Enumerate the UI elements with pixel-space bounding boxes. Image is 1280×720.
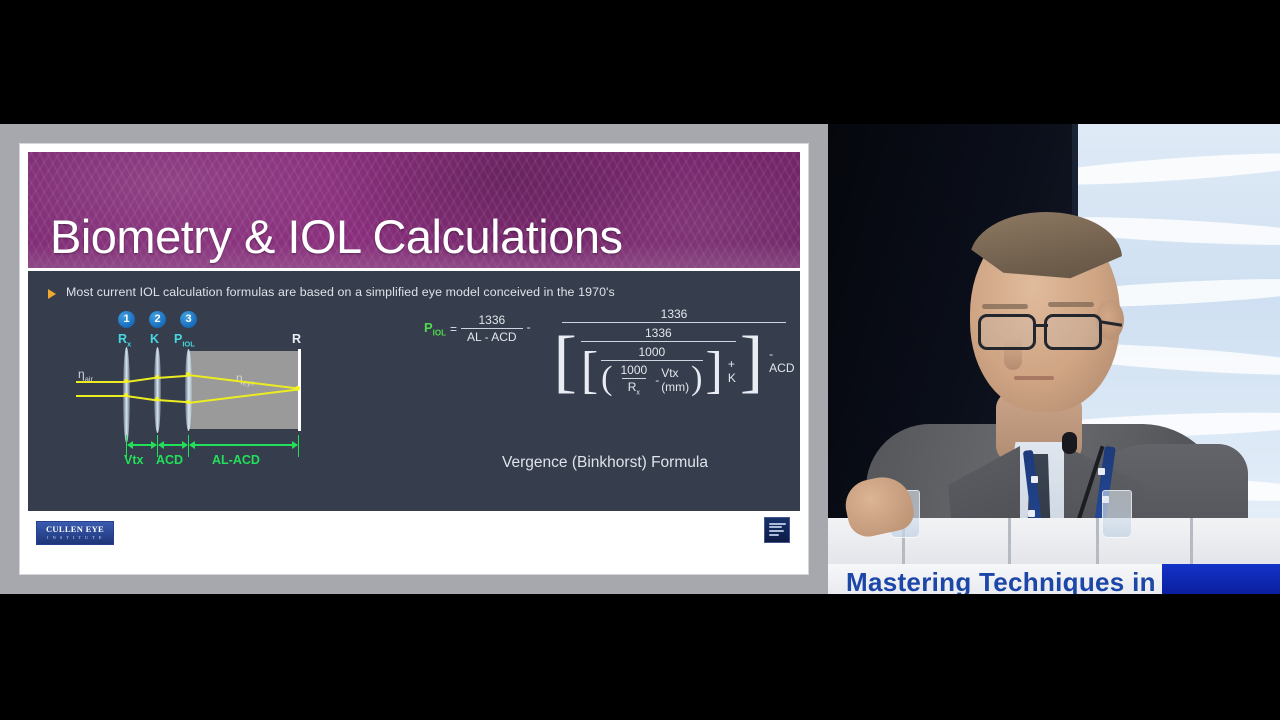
- marker-circle-3: 3: [180, 311, 197, 328]
- letterbox-top: [0, 0, 1280, 124]
- incident-ray-lower: [76, 395, 126, 397]
- focal-point: [295, 386, 300, 391]
- mid-bracket-right: ]: [706, 355, 723, 387]
- inner3-numerator: 1000: [614, 363, 653, 378]
- slide-content-panel: Most current IOL calculation formulas ar…: [28, 271, 800, 511]
- triangle-bullet-icon: [48, 289, 56, 299]
- minus-acd-term: - ACD: [769, 347, 794, 375]
- outer-bracket-left: [: [554, 340, 577, 383]
- arrow-vtx: [128, 444, 156, 446]
- slide-title-banner: Biometry & IOL Calculations: [28, 152, 800, 268]
- arrow-al-acd: [190, 444, 297, 446]
- cullen-logo-primary-text: CULLEN EYE: [46, 525, 104, 534]
- eyeglasses-lens-right: [1044, 314, 1102, 350]
- content-band: Biometry & IOL Calculations Most current…: [0, 124, 1280, 594]
- inner3-denominator: Rx: [622, 378, 646, 396]
- inner-minus: -: [655, 373, 659, 387]
- presentation-slide: Biometry & IOL Calculations Most current…: [20, 144, 808, 574]
- cornea-lens-k: [154, 347, 161, 433]
- eyeglasses-bridge: [1034, 324, 1048, 327]
- video-player-stage: Biometry & IOL Calculations Most current…: [0, 0, 1280, 720]
- eta-eye-label: ηeye: [236, 371, 255, 387]
- page-title: Biometry & IOL Calculations: [50, 213, 623, 260]
- measure-label-al-acd: AL-ACD: [212, 453, 260, 467]
- letterbox-bottom: [0, 594, 1280, 720]
- slide-footer: CULLEN EYE I N S T I T U T E: [28, 511, 800, 566]
- mid-bracket-left: [: [581, 355, 598, 387]
- eye-model-diagram: 1 2 3 Rx K PIOL R ηair ηeye: [76, 311, 416, 496]
- vtx-term: Vtx (mm): [661, 366, 689, 394]
- iol-lens-piol: [185, 349, 192, 431]
- slide-inner: Biometry & IOL Calculations Most current…: [28, 152, 800, 566]
- formula-caption: Vergence (Binkhorst) Formula: [424, 454, 786, 472]
- measure-label-vtx: Vtx: [124, 453, 143, 467]
- inner3-fraction: 1000 Rx: [614, 363, 653, 396]
- water-glass-right: [1102, 490, 1132, 538]
- surface-label-piol: PIOL: [174, 332, 195, 349]
- term1-numerator: 1336: [472, 313, 511, 328]
- formula-lhs: PIOL: [424, 320, 446, 338]
- outer-bracket-right: ]: [740, 340, 763, 383]
- marker-circle-1: 1: [118, 311, 135, 328]
- cullen-logo-secondary-text: I N S T I T U T E: [47, 536, 103, 541]
- marker-circle-2: 2: [149, 311, 166, 328]
- speaker-eyebrow-right: [1048, 302, 1094, 307]
- bullet-row: Most current IOL calculation formulas ar…: [48, 285, 786, 301]
- measure-label-acd: ACD: [156, 453, 183, 467]
- arrow-acd: [159, 444, 187, 446]
- ray-node-b: [124, 393, 128, 397]
- incident-ray-upper: [76, 381, 126, 383]
- podium-banner-accent: [1162, 564, 1280, 594]
- surface-label-r: R: [292, 332, 301, 346]
- baylor-college-of-medicine-logo: [764, 517, 790, 543]
- formula-term1: 1336 AL - ACD: [461, 313, 523, 344]
- ray-node-a: [124, 379, 128, 383]
- eyeglasses-lens-left: [978, 314, 1036, 350]
- ray-segment-1u: [126, 377, 158, 383]
- paren-right: ): [691, 368, 702, 390]
- surface-label-k: K: [150, 332, 159, 346]
- podium-banner-text: Mastering Techniques in IOL: [846, 567, 1208, 594]
- cullen-eye-institute-logo: CULLEN EYE I N S T I T U T E: [36, 521, 114, 545]
- plus-k-term: + K: [728, 357, 736, 385]
- vergence-binkhorst-formula: PIOL = 1336 AL - ACD - 1336: [424, 305, 786, 470]
- microphone-head: [1062, 432, 1077, 454]
- formula-minus: -: [527, 320, 531, 337]
- baylor-logo-mark: [769, 523, 786, 538]
- speaker-video-feed: Mastering Techniques in IOL: [828, 124, 1280, 594]
- ray-node-c: [155, 375, 159, 379]
- speaker-mouth: [1014, 376, 1054, 380]
- bullet-text: Most current IOL calculation formulas ar…: [66, 285, 615, 301]
- formula-equals: =: [450, 322, 457, 336]
- inner2-numerator: 1000: [628, 345, 675, 360]
- term2-numerator: 1336: [562, 307, 786, 322]
- ray-node-e: [186, 372, 190, 376]
- ray-node-f: [186, 400, 190, 404]
- inner-numerator: 1336: [627, 326, 690, 341]
- speaker-eyebrow-left: [982, 304, 1028, 309]
- paren-left: (: [601, 368, 612, 390]
- term1-denominator: AL - ACD: [461, 328, 523, 344]
- surface-label-rx: Rx: [118, 332, 131, 349]
- ray-node-d: [155, 397, 159, 401]
- ray-segment-1l: [126, 395, 158, 401]
- tick-retina: [298, 435, 299, 457]
